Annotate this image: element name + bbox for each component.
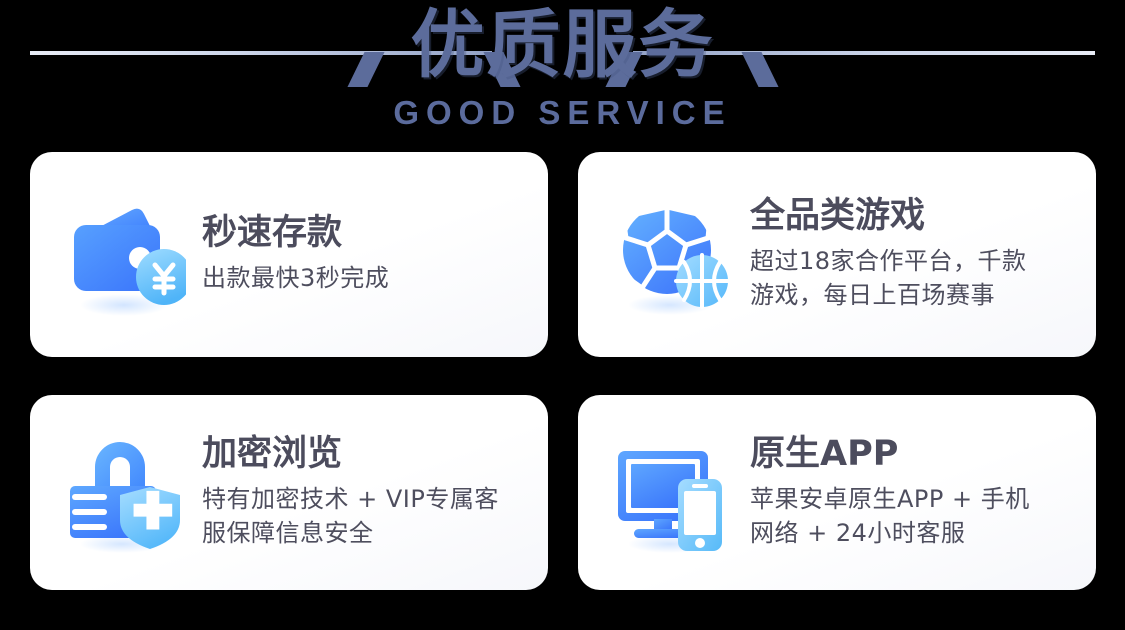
card-desc-line: 超过18家合作平台，千款 [750,244,1074,278]
card-description: 苹果安卓原生APP + 手机 网络 + 24小时客服 [750,482,1074,550]
lock-shield-icon [62,431,186,555]
feature-card-deposit[interactable]: 秒速存款 出款最快3秒完成 [30,152,548,357]
card-title: 全品类游戏 [750,197,1074,236]
banner-header: 优质服务 GOOD SERVICE [0,0,1125,150]
card-title: 原生APP [750,435,1074,474]
card-title: 秒速存款 [202,214,526,253]
card-text-block: 全品类游戏 超过18家合作平台，千款 游戏，每日上百场赛事 [750,197,1074,312]
feature-card-games[interactable]: 全品类游戏 超过18家合作平台，千款 游戏，每日上百场赛事 [578,152,1096,357]
page-title: 优质服务 [0,8,1125,82]
page-subtitle: GOOD SERVICE [0,96,1125,129]
card-text-block: 加密浏览 特有加密技术 + VIP专属客 服保障信息安全 [202,435,526,550]
card-title: 加密浏览 [202,435,526,474]
card-desc-line: 网络 + 24小时客服 [750,516,1074,550]
feature-card-encryption[interactable]: 加密浏览 特有加密技术 + VIP专属客 服保障信息安全 [30,395,548,590]
soccer-basketball-icon [610,193,734,317]
card-desc-line: 苹果安卓原生APP + 手机 [750,482,1074,516]
card-text-block: 秒速存款 出款最快3秒完成 [202,214,526,295]
card-description: 特有加密技术 + VIP专属客 服保障信息安全 [202,482,526,550]
card-desc-line: 特有加密技术 + VIP专属客 [202,482,526,516]
card-desc-line: 游戏，每日上百场赛事 [750,278,1074,312]
feature-card-grid: 秒速存款 出款最快3秒完成 [30,152,1096,590]
card-text-block: 原生APP 苹果安卓原生APP + 手机 网络 + 24小时客服 [750,435,1074,550]
wallet-yen-icon [62,193,186,317]
feature-card-native-app[interactable]: 原生APP 苹果安卓原生APP + 手机 网络 + 24小时客服 [578,395,1096,590]
card-description: 出款最快3秒完成 [202,261,526,295]
card-desc-line: 服保障信息安全 [202,516,526,550]
card-description: 超过18家合作平台，千款 游戏，每日上百场赛事 [750,244,1074,312]
good-service-banner: 优质服务 GOOD SERVICE [0,0,1125,630]
monitor-phone-icon [610,431,734,555]
card-desc-line: 出款最快3秒完成 [202,261,526,295]
